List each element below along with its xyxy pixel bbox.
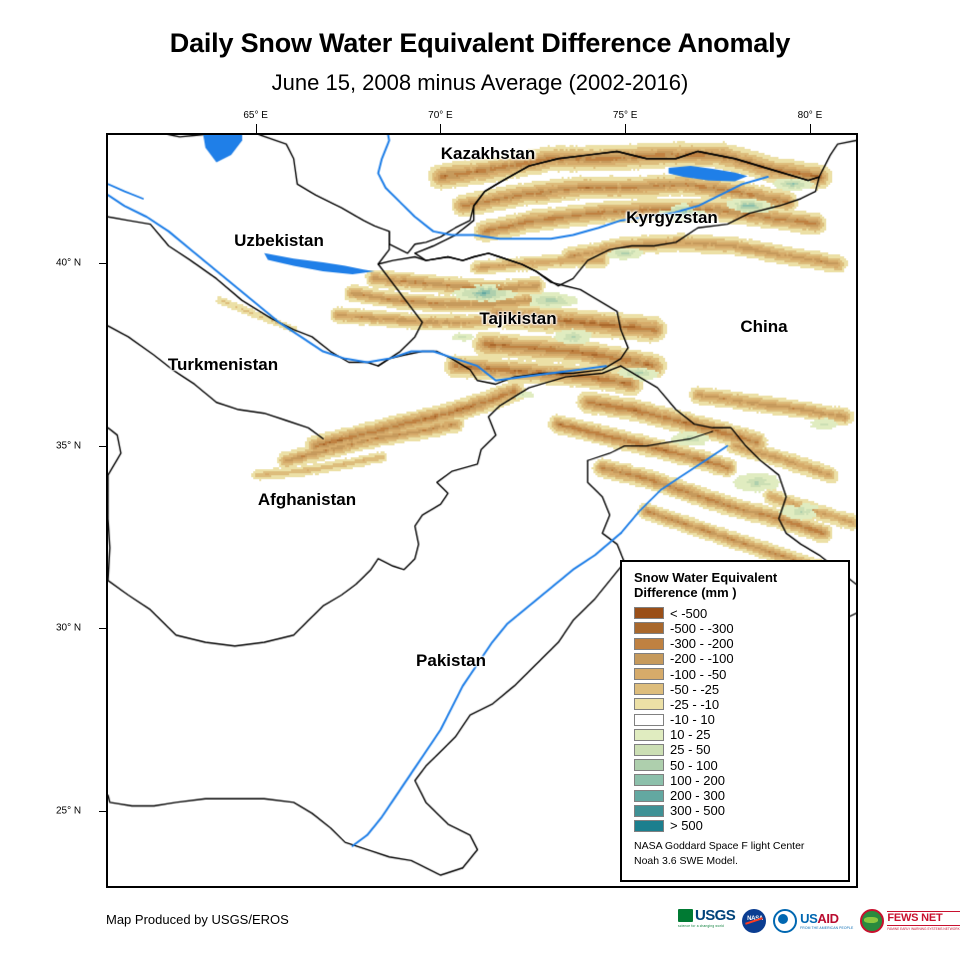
legend-class-row: 100 - 200: [634, 773, 838, 788]
legend-class-label: -300 - -200: [670, 637, 734, 650]
usaid-seal-icon: [773, 909, 797, 933]
legend-color-swatch: [634, 774, 664, 786]
legend-class-label: -50 - -25: [670, 683, 719, 696]
nasa-wordmark: NASA: [747, 916, 763, 922]
longitude-tick-mark: [810, 124, 811, 133]
country-label-kazakhstan: Kazakhstan: [441, 144, 535, 164]
latitude-tick-label: 30° N: [56, 623, 81, 634]
legend-class-label: -10 - 10: [670, 713, 715, 726]
legend-color-swatch: [634, 820, 664, 832]
latitude-tick-label: 40° N: [56, 257, 81, 268]
fews-globe-icon: [860, 909, 884, 933]
legend-color-swatch: [634, 805, 664, 817]
legend-class-list: < -500-500 - -300-300 - -200-200 - -100-…: [634, 606, 838, 834]
longitude-tick-label: 65° E: [243, 110, 268, 121]
legend-color-swatch: [634, 683, 664, 695]
page-subtitle: June 15, 2008 minus Average (2002-2016): [0, 70, 960, 96]
usaid-tagline: FROM THE AMERICAN PEOPLE: [800, 926, 853, 930]
legend-class-label: -25 - -10: [670, 698, 719, 711]
usaid-aid-text: AID: [817, 911, 838, 926]
country-label-tajikistan: Tajikistan: [479, 309, 556, 329]
legend-color-swatch: [634, 698, 664, 710]
country-label-afghanistan: Afghanistan: [258, 490, 356, 510]
legend-color-swatch: [634, 714, 664, 726]
legend-class-row: 50 - 100: [634, 758, 838, 773]
legend-color-swatch: [634, 607, 664, 619]
legend-class-label: 200 - 300: [670, 789, 725, 802]
map-page: Daily Snow Water Equivalent Difference A…: [0, 0, 960, 960]
longitude-tick-label: 70° E: [428, 110, 453, 121]
usgs-wordmark: USGS: [695, 908, 735, 923]
legend-class-label: 300 - 500: [670, 804, 725, 817]
usgs-tagline: science for a changing world: [678, 924, 724, 928]
legend-class-label: -100 - -50: [670, 668, 726, 681]
legend-class-row: -25 - -10: [634, 697, 838, 712]
legend-color-swatch: [634, 668, 664, 680]
legend-class-row: -200 - -100: [634, 651, 838, 666]
legend-class-row: < -500: [634, 606, 838, 621]
footer-credit: Map Produced by USGS/EROS: [106, 912, 289, 927]
legend-color-swatch: [634, 638, 664, 650]
legend-class-label: 25 - 50: [670, 743, 710, 756]
legend-class-label: -200 - -100: [670, 652, 734, 665]
legend-credit: NASA Goddard Space F light Center Noah 3…: [634, 839, 838, 867]
country-label-kyrgyzstan: Kyrgyzstan: [626, 208, 718, 228]
legend-class-row: > 500: [634, 818, 838, 833]
longitude-tick-label: 80° E: [798, 110, 823, 121]
usaid-us-text: US: [800, 911, 817, 926]
legend-class-row: 300 - 500: [634, 803, 838, 818]
legend-class-row: -100 - -50: [634, 666, 838, 681]
agency-logo-bar: USGS science for a changing world NASA U…: [678, 906, 960, 936]
legend-color-swatch: [634, 790, 664, 802]
legend-class-label: > 500: [670, 819, 703, 832]
longitude-tick-label: 75° E: [613, 110, 638, 121]
legend-class-row: -10 - 10: [634, 712, 838, 727]
latitude-tick-label: 25° N: [56, 806, 81, 817]
legend-color-swatch: [634, 744, 664, 756]
legend-color-swatch: [634, 729, 664, 741]
legend-class-label: 100 - 200: [670, 774, 725, 787]
legend-color-swatch: [634, 622, 664, 634]
legend-title-line2: Difference (mm ): [634, 585, 838, 600]
usaid-logo: USAID FROM THE AMERICAN PEOPLE: [773, 908, 853, 934]
legend-class-label: < -500: [670, 607, 707, 620]
legend-panel: Snow Water Equivalent Difference (mm ) <…: [620, 560, 850, 882]
page-title: Daily Snow Water Equivalent Difference A…: [0, 28, 960, 59]
latitude-tick-label: 35° N: [56, 440, 81, 451]
legend-class-row: -500 - -300: [634, 621, 838, 636]
legend-credit-line1: NASA Goddard Space F light Center: [634, 839, 838, 853]
legend-class-label: -500 - -300: [670, 622, 734, 635]
longitude-tick-mark: [256, 124, 257, 133]
fews-wordmark: FEWS NET: [887, 911, 959, 926]
fews-tagline: FAMINE EARLY WARNING SYSTEMS NETWORK: [887, 927, 959, 931]
fews-net-logo: FEWS NET FAMINE EARLY WARNING SYSTEMS NE…: [860, 908, 959, 934]
country-label-turkmenistan: Turkmenistan: [168, 355, 278, 375]
legend-color-swatch: [634, 759, 664, 771]
country-label-pakistan: Pakistan: [416, 651, 486, 671]
legend-class-row: 200 - 300: [634, 788, 838, 803]
nasa-logo: NASA: [742, 908, 766, 934]
legend-class-label: 10 - 25: [670, 728, 710, 741]
usgs-wave-icon: [678, 909, 693, 922]
longitude-tick-mark: [625, 124, 626, 133]
legend-title: Snow Water Equivalent Difference (mm ): [634, 570, 838, 601]
country-label-china: China: [740, 317, 787, 337]
nasa-meatball-icon: NASA: [742, 909, 766, 933]
longitude-tick-mark: [440, 124, 441, 133]
legend-credit-line2: Noah 3.6 SWE Model.: [634, 854, 838, 868]
legend-class-row: 10 - 25: [634, 727, 838, 742]
legend-class-row: -50 - -25: [634, 682, 838, 697]
legend-class-label: 50 - 100: [670, 759, 718, 772]
legend-class-row: -300 - -200: [634, 636, 838, 651]
usgs-logo: USGS science for a changing world: [678, 908, 735, 934]
legend-color-swatch: [634, 653, 664, 665]
legend-title-line1: Snow Water Equivalent: [634, 570, 838, 585]
country-label-uzbekistan: Uzbekistan: [234, 231, 324, 251]
legend-class-row: 25 - 50: [634, 742, 838, 757]
